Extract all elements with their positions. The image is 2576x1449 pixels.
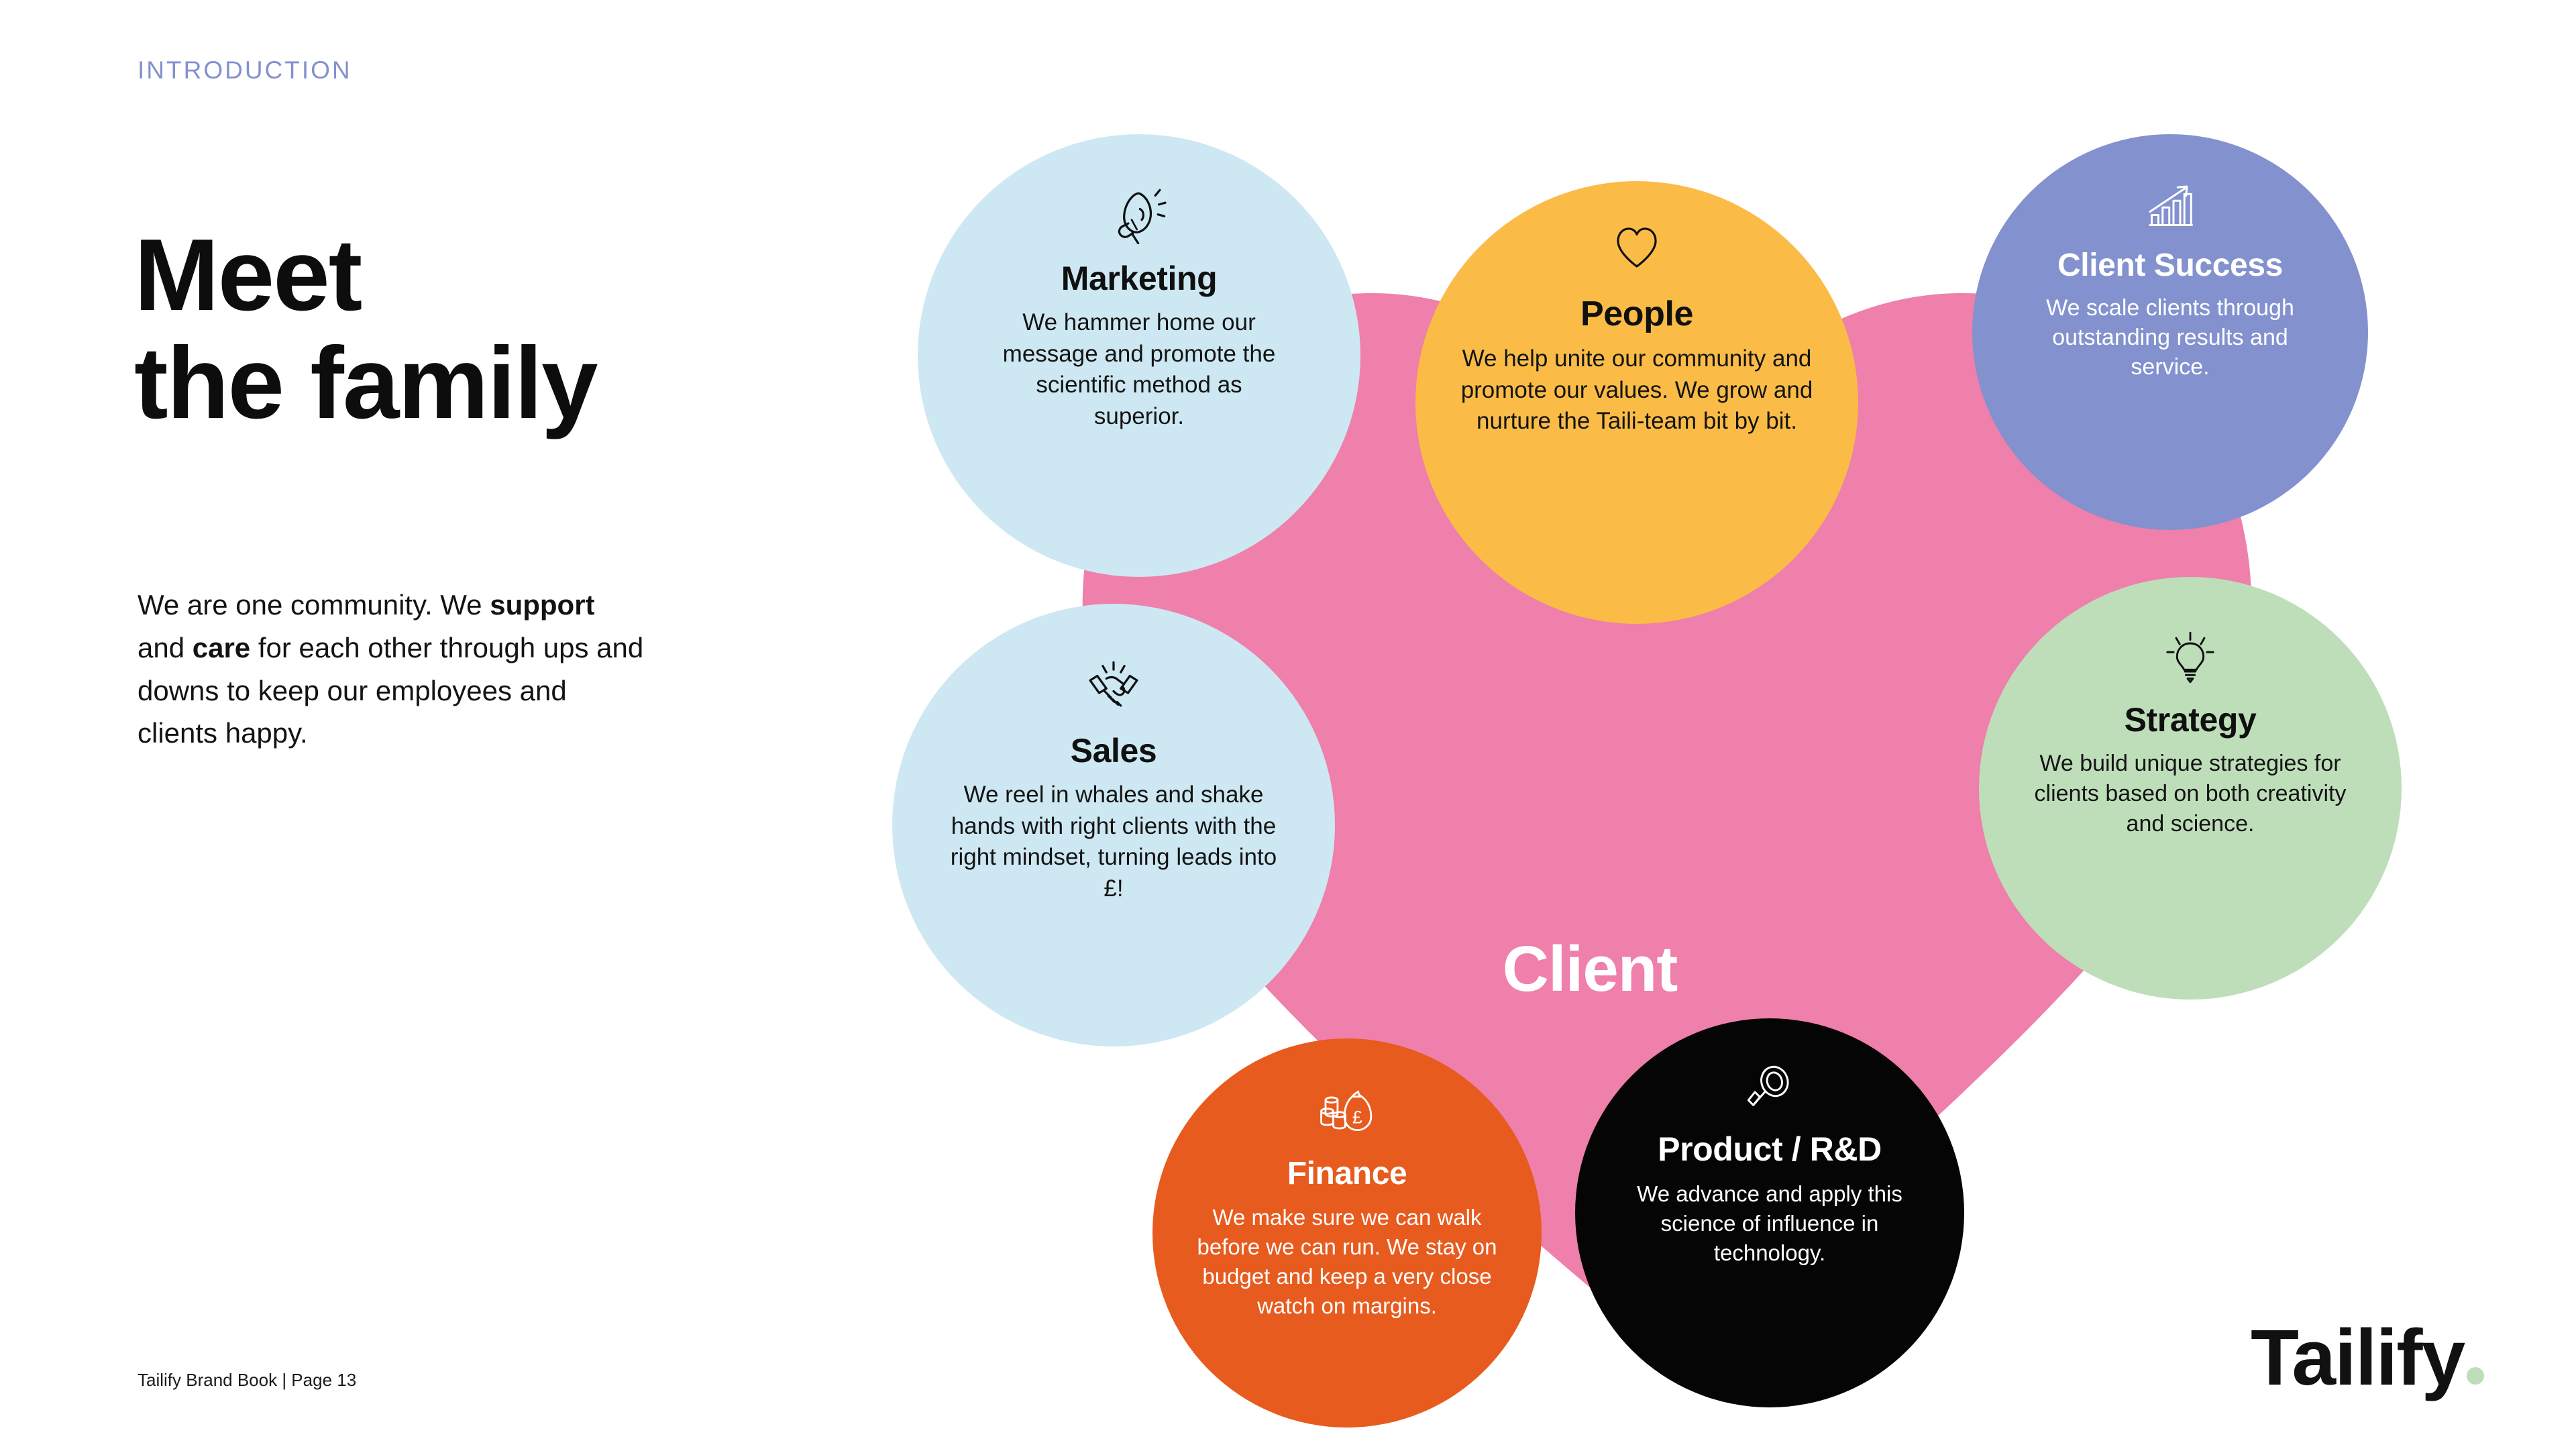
bubble-strategy[interactable]: Strategy We build unique strategies for …: [1979, 577, 2402, 1000]
bubble-marketing[interactable]: Marketing We hammer home our message and…: [918, 134, 1360, 577]
bubble-people[interactable]: People We help unite our community and p…: [1415, 181, 1858, 624]
bubble-title: People: [1580, 294, 1693, 334]
page-title: Meet the family: [134, 221, 597, 437]
megaphone-icon: [1110, 186, 1168, 244]
bubble-title: Client Success: [2057, 247, 2283, 284]
bubble-description: We scale clients through outstanding res…: [2016, 293, 2324, 382]
page-title-line-2: the family: [134, 329, 597, 437]
heart-icon: [1611, 221, 1663, 274]
intro-bold-support: support: [490, 589, 594, 621]
bubble-client-success[interactable]: Client Success We scale clients through …: [1972, 134, 2368, 530]
footer-page-label: Tailify Brand Book | Page 13: [138, 1370, 356, 1391]
bubble-finance[interactable]: £ Finance We make sure we can walk befor…: [1152, 1038, 1542, 1428]
bubble-product-rd[interactable]: Product / R&D We advance and apply this …: [1575, 1018, 1964, 1407]
bubble-description: We hammer home our message and promote t…: [991, 307, 1287, 432]
section-eyebrow: INTRODUCTION: [138, 56, 352, 85]
bubble-description: We build unique strategies for clients b…: [2016, 749, 2365, 840]
svg-text:£: £: [1352, 1107, 1362, 1127]
family-diagram: Client Marketing We hammer home our mess…: [865, 114, 2509, 1382]
bubble-title: Finance: [1287, 1155, 1407, 1192]
bubble-title: Strategy: [2125, 700, 2257, 739]
magnifying-glass-icon: [1743, 1063, 1796, 1115]
intro-paragraph: We are one community. We support and car…: [138, 584, 647, 755]
intro-text-1: We are one community. We: [138, 589, 490, 621]
bubble-title: Product / R&D: [1658, 1130, 1882, 1169]
intro-bold-care: care: [193, 632, 250, 663]
intro-text-2: and: [138, 632, 193, 663]
bubble-description: We make sure we can walk before we can r…: [1196, 1203, 1498, 1321]
bubble-description: We reel in whales and shake hands with r…: [939, 780, 1288, 904]
diagram-center-label: Client: [1503, 932, 1678, 1006]
bubble-description: We help unite our community and promote …: [1446, 343, 1828, 437]
lightbulb-icon: [2162, 629, 2218, 686]
bar-chart-growth-icon: [2143, 180, 2197, 233]
money-bag-pound-icon: £: [1320, 1085, 1375, 1140]
page-title-line-1: Meet: [134, 221, 597, 329]
bubble-description: We advance and apply this science of inf…: [1629, 1179, 1911, 1268]
bubble-title: Marketing: [1061, 259, 1218, 298]
bubble-sales[interactable]: Sales We reel in whales and shake hands …: [892, 604, 1335, 1046]
bubble-title: Sales: [1071, 731, 1157, 770]
handshake-icon: [1085, 659, 1142, 716]
